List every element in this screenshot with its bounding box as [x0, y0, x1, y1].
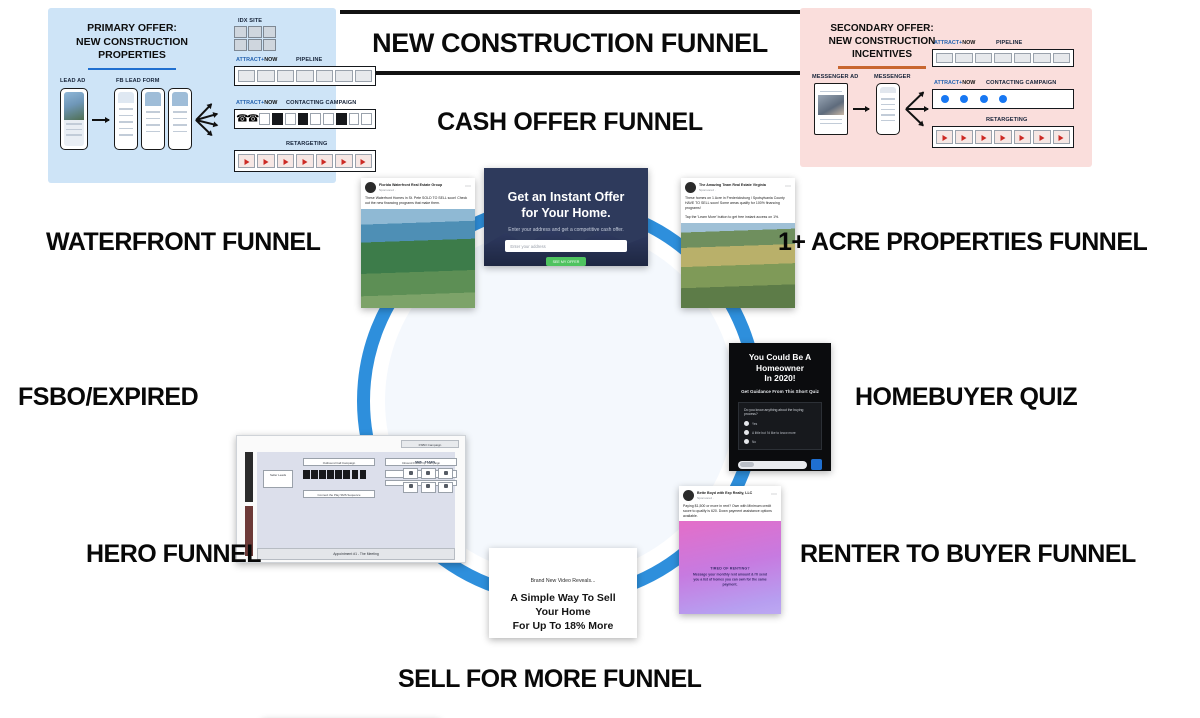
secondary-offer-panel: SECONDARY OFFER: NEW CONSTRUCTION INCENT… — [800, 8, 1092, 167]
card-sell-for-more[interactable]: Brand New Video Reveals... A Simple Way … — [489, 548, 637, 638]
fsbo-box-sms: Connect the Play SMS Sequence — [303, 490, 375, 498]
fsbo-top-segment — [257, 452, 455, 548]
fsbo-task-grid-top — [403, 468, 453, 493]
secondary-retargeting-box — [932, 126, 1074, 148]
arrow-lead-to-form — [92, 119, 109, 121]
label-acre-funnel: 1+ ACRE PROPERTIES FUNNEL — [778, 228, 1147, 257]
quiz-headline-line2: In 2020! — [764, 373, 795, 383]
primary-heading-line2: NEW CONSTRUCTION — [58, 36, 206, 50]
secondary-offer-heading: SECONDARY OFFER: NEW CONSTRUCTION INCENT… — [812, 22, 952, 69]
renter-image-text: Message your monthly rent amount & I'll … — [692, 572, 767, 588]
secondary-contacting-label: CONTACTING CAMPAIGN — [986, 80, 1056, 86]
fsbo-top-steps — [303, 470, 366, 479]
fsbo-rail-top — [245, 452, 253, 502]
brand-bold: NOW — [264, 57, 277, 63]
waterfront-ad-body: These Waterfront Homes in St. Pete SOLD … — [361, 195, 475, 209]
messenger-phone — [876, 83, 900, 135]
contacting-campaign-label: CONTACTING CAMPAIGN — [286, 100, 356, 106]
cash-offer-address-input[interactable]: Enter your address — [505, 240, 626, 252]
fsbo-box-outbound: Outbound Call Campaign — [303, 458, 375, 466]
label-waterfront-funnel: WATERFRONT FUNNEL — [46, 228, 320, 257]
header-title-block: NEW CONSTRUCTION FUNNEL — [340, 10, 800, 75]
brand-text: ATTRACT+ — [934, 80, 962, 86]
fsbo-grid-label-top: SMS - TASKS — [415, 460, 435, 464]
primary-heading-underline — [88, 68, 176, 71]
fsbo-campaign-tab[interactable]: FSBO Campaign — [401, 440, 459, 448]
secondary-heading-line2: NEW CONSTRUCTION — [812, 35, 952, 48]
avatar — [365, 182, 376, 193]
secondary-retargeting-label: RETARGETING — [986, 117, 1027, 123]
cash-offer-headline: Get an Instant Offer for Your Home. — [484, 168, 648, 221]
label-sell-for-more: SELL FOR MORE FUNNEL — [398, 665, 701, 694]
card-fsbo-expired[interactable]: FSBO Campaign Seller Leads Outbound Call… — [236, 435, 466, 563]
primary-brand-contacting: ATTRACT+NOW — [236, 100, 277, 106]
cash-offer-cta-button[interactable]: SEE MY OFFER — [546, 257, 585, 266]
primary-retargeting-box — [234, 150, 376, 172]
brand-text: ATTRACT+ — [236, 100, 264, 106]
quiz-option-label: Yes — [752, 422, 757, 426]
radio-icon[interactable] — [744, 430, 749, 435]
quiz-progress-row — [738, 459, 822, 470]
card-cash-offer[interactable]: Get an Instant Offer for Your Home. Ente… — [484, 168, 648, 266]
idx-site-thumbnails — [234, 26, 276, 51]
primary-brand-pipeline: ATTRACT+NOW — [236, 57, 277, 63]
arrow-messenger-ad-to-messenger — [853, 108, 869, 110]
brand-text: ATTRACT+ — [934, 40, 962, 46]
quiz-question-box: Do you know anything about the buying pr… — [738, 402, 822, 451]
quiz-next-button[interactable] — [811, 459, 822, 470]
sfm-headline-line2: For Up To 18% More — [513, 620, 614, 632]
primary-contacting-box: ☎ ☎ — [234, 109, 376, 129]
fb-lead-form-phone-2 — [141, 88, 165, 150]
secondary-heading-underline — [838, 66, 926, 69]
messenger-ad-label: MESSENGER AD — [812, 74, 858, 80]
quiz-question: Do you know anything about the buying pr… — [744, 408, 816, 418]
primary-offer-panel: PRIMARY OFFER: NEW CONSTRUCTION PROPERTI… — [48, 8, 336, 183]
avatar — [683, 490, 694, 501]
secondary-arrow-fan-3 — [905, 108, 923, 126]
quiz-option[interactable]: A little but I'd like to know more — [744, 430, 816, 435]
card-homebuyer-quiz[interactable]: You Could Be A Homeowner In 2020! Get Gu… — [729, 343, 831, 471]
secondary-heading-line1: SECONDARY OFFER: — [812, 22, 952, 35]
secondary-arrow-fan-1 — [905, 92, 923, 110]
funnel-infographic: NEW CONSTRUCTION FUNNEL CASH OFFER FUNNE… — [0, 0, 1200, 718]
page-subtitle: CASH OFFER FUNNEL — [340, 108, 800, 137]
renter-ad-header: Bette Boyd with Exp Realty, LLC Sponsore… — [679, 486, 781, 503]
acre-ad-body2: Tap the 'Learn More' button to get free … — [681, 213, 795, 223]
brand-text: ATTRACT+ — [236, 57, 264, 63]
renter-image-text-block: TIRED OF RENTING? Message your monthly r… — [692, 566, 767, 587]
pipeline-label: PIPELINE — [296, 57, 322, 63]
primary-heading-line1: PRIMARY OFFER: — [58, 22, 206, 36]
avatar — [685, 182, 696, 193]
cash-offer-subhead: Enter your address and get a competitive… — [484, 221, 648, 233]
quiz-progress-bar — [738, 461, 807, 469]
secondary-contacting-box — [932, 89, 1074, 109]
radio-icon[interactable] — [744, 439, 749, 444]
acre-ad-header: The Amazing Team Real Estate Virginia Sp… — [681, 178, 795, 195]
acre-ad-body: These homes on 1 Acre in Fredericksburg … — [681, 195, 795, 213]
page-title: NEW CONSTRUCTION FUNNEL — [340, 14, 800, 71]
renter-ad-body: Paying $1,500 or more in rent? Own with … — [679, 503, 781, 521]
fb-lead-form-phone-1 — [114, 88, 138, 150]
radio-icon[interactable] — [744, 421, 749, 426]
fb-lead-form-phone-3 — [168, 88, 192, 150]
header-rule-bottom — [340, 71, 800, 75]
secondary-pipeline-label: PIPELINE — [996, 40, 1022, 46]
more-options-icon[interactable]: ⋯ — [785, 186, 791, 190]
quiz-option-label: A little but I'd like to know more — [752, 431, 796, 435]
quiz-footer-note: 100% FREE · NO OBLIGATION TO BUY OR SELL — [729, 470, 831, 471]
secondary-arrow-fan-2 — [906, 108, 928, 110]
messenger-ad-card — [814, 83, 848, 135]
secondary-brand-pipeline: ATTRACT+NOW — [934, 40, 975, 46]
card-waterfront-ad[interactable]: Florida Waterfront Real Estate Group Spo… — [361, 178, 475, 308]
renter-ad-image: TIRED OF RENTING? Message your monthly r… — [679, 521, 781, 614]
more-options-icon[interactable]: ⋯ — [465, 186, 471, 190]
waterfront-ad-header: Florida Waterfront Real Estate Group Spo… — [361, 178, 475, 195]
lead-ad-label: LEAD AD — [60, 78, 85, 84]
fsbo-band-meeting: Appointment #1 - The Meeting — [257, 548, 455, 560]
quiz-headline-line1: You Could Be A Homeowner — [749, 352, 811, 373]
messenger-label: MESSENGER — [874, 74, 911, 80]
sfm-pre-headline: Brand New Video Reveals... — [489, 548, 637, 584]
primary-heading-line3: PROPERTIES — [58, 49, 206, 63]
sfm-headline-line1: A Simple Way To Sell Your Home — [510, 592, 615, 618]
secondary-heading-line3: INCENTIVES — [812, 48, 952, 61]
fb-lead-form-label: FB LEAD FORM — [116, 78, 159, 84]
quiz-headline: You Could Be A Homeowner In 2020! — [729, 343, 831, 384]
waterfront-ad-image — [361, 209, 475, 308]
retargeting-label: RETARGETING — [286, 141, 327, 147]
label-hero-funnel: HERO FUNNEL — [86, 540, 261, 569]
primary-pipeline-box — [234, 66, 376, 86]
more-options-icon[interactable]: ⋯ — [771, 494, 777, 498]
quiz-subhead: Get Guidance From This Short Quiz — [729, 384, 831, 394]
label-fsbo-expired: FSBO/EXPIRED — [18, 383, 198, 412]
waterfront-page-meta: Sponsored · — [379, 188, 442, 192]
renter-page-meta: Sponsored · — [697, 496, 752, 500]
brand-bold: NOW — [264, 100, 277, 106]
secondary-pipeline-box — [932, 49, 1074, 67]
primary-offer-heading: PRIMARY OFFER: NEW CONSTRUCTION PROPERTI… — [58, 22, 206, 70]
idx-site-label: IDX SITE — [238, 18, 262, 24]
secondary-brand-contacting: ATTRACT+NOW — [934, 80, 975, 86]
label-homebuyer-quiz: HOMEBUYER QUIZ — [855, 383, 1077, 412]
brand-bold: NOW — [962, 80, 975, 86]
quiz-option[interactable]: Yes — [744, 421, 816, 426]
acre-page-meta: Sponsored · — [699, 188, 766, 192]
label-renter-to-buyer: RENTER TO BUYER FUNNEL — [800, 540, 1136, 569]
fsbo-node-seller-leads: Seller Leads — [263, 470, 293, 488]
lead-ad-phone — [60, 88, 88, 150]
sfm-headline: A Simple Way To Sell Your Home For Up To… — [489, 584, 637, 633]
quiz-option[interactable]: No — [744, 439, 816, 444]
card-renter-to-buyer[interactable]: Bette Boyd with Exp Realty, LLC Sponsore… — [679, 486, 781, 614]
quiz-option-label: No — [752, 440, 756, 444]
brand-bold: NOW — [962, 40, 975, 46]
